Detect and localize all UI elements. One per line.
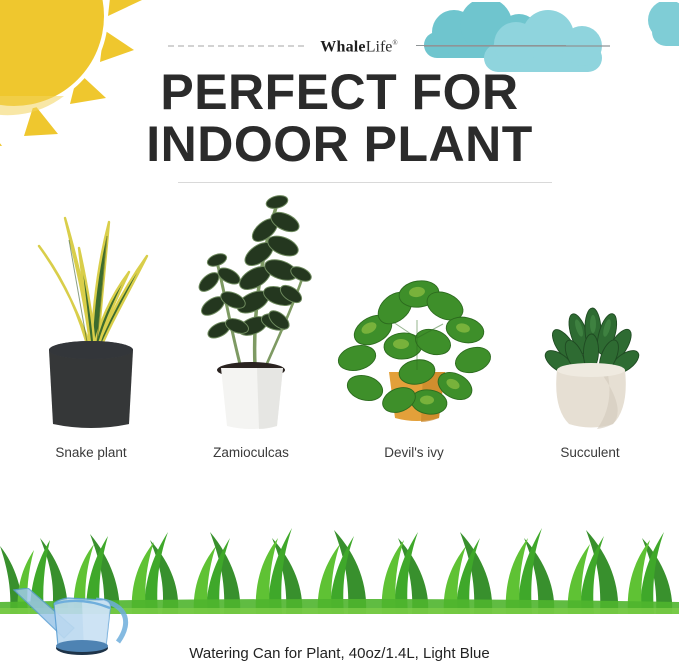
divider-right	[416, 45, 566, 46]
brand-row: WhaleLife®	[0, 32, 679, 60]
headline-line-1: PERFECT FOR	[0, 66, 679, 118]
registered-mark-icon: ®	[392, 39, 397, 47]
plant-item-snake-plant: Snake plant	[16, 180, 166, 460]
plant-item-succulent: Succulent	[520, 180, 660, 460]
devils-ivy-art	[333, 260, 495, 432]
plant-label-zamioculcas: Zamioculcas	[178, 445, 324, 460]
snake-plant-art	[25, 200, 157, 432]
brand-name-bold: Whale	[320, 38, 365, 55]
plant-label-succulent: Succulent	[520, 445, 660, 460]
plants-row: Snake plant	[0, 196, 679, 496]
succulent-art	[531, 288, 649, 432]
page-title: PERFECT FOR INDOOR PLANT	[0, 66, 679, 170]
infographic-page: WhaleLife® PERFECT FOR INDOOR PLANT	[0, 0, 679, 670]
plant-item-zamioculcas: Zamioculcas	[178, 180, 324, 460]
brand-logo: WhaleLife®	[305, 32, 413, 58]
product-caption: Watering Can for Plant, 40oz/1.4L, Light…	[0, 645, 679, 662]
plant-label-snake-plant: Snake plant	[16, 445, 166, 460]
headline-line-2: INDOOR PLANT	[0, 118, 679, 170]
plant-label-devils-ivy: Devil's ivy	[336, 445, 492, 460]
zamioculcas-art	[181, 170, 321, 432]
plant-item-devils-ivy: Devil's ivy	[336, 180, 492, 460]
divider-left	[168, 45, 304, 47]
brand-name-light: Life	[366, 38, 393, 55]
